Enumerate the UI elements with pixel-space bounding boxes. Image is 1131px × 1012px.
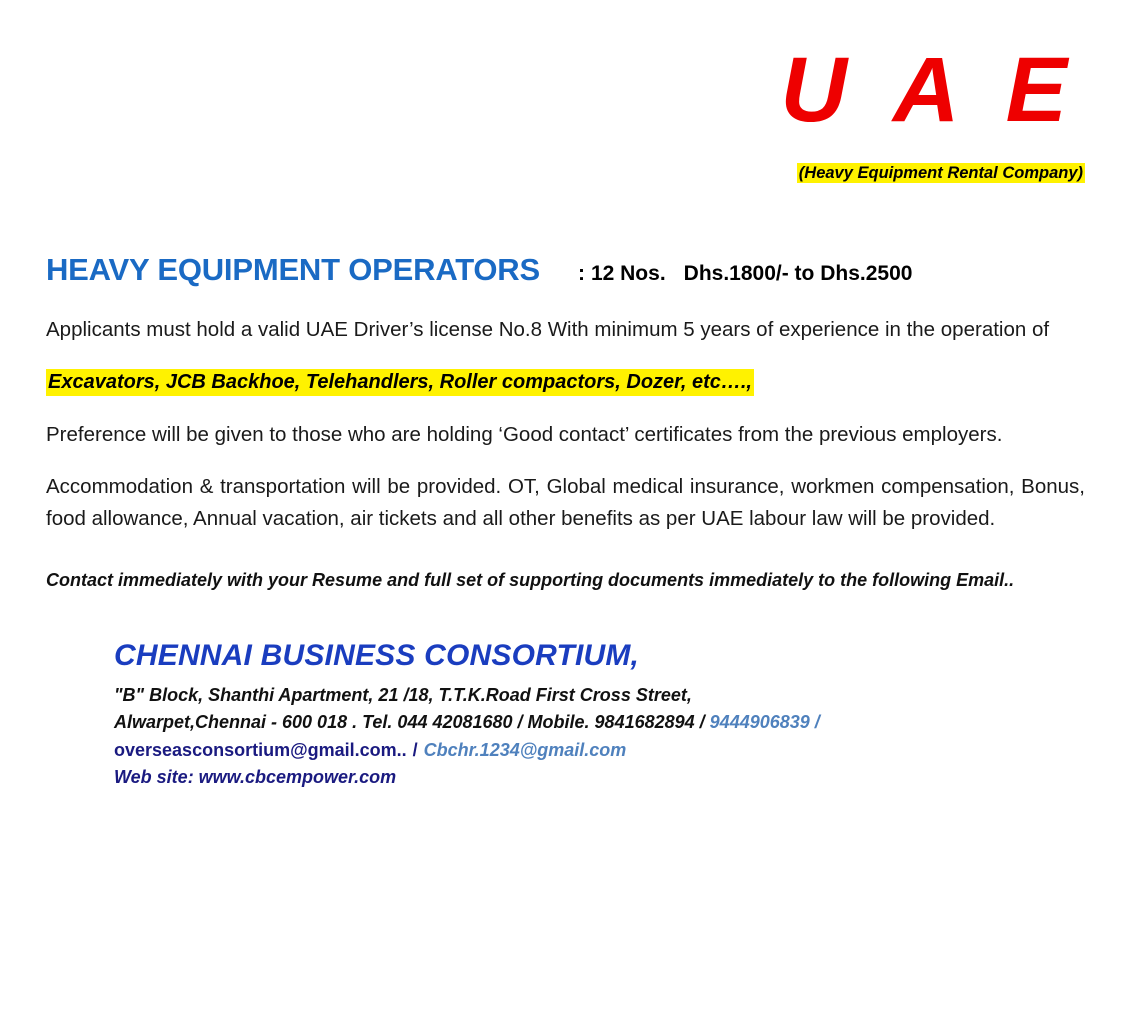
job-title-row: HEAVY EQUIPMENT OPERATORS :12 Nos.Dhs.18… xyxy=(46,252,1085,288)
job-meta-group: :12 Nos.Dhs.1800/- to Dhs.2500 xyxy=(578,262,912,286)
contact-instruction-paragraph: Contact immediately with your Resume and… xyxy=(46,567,1082,594)
brand-subtitle-wrapper: (Heavy Equipment Rental Company) xyxy=(46,162,1085,186)
header-logo-block: U A E (Heavy Equipment Rental Company) xyxy=(46,0,1085,186)
address-email-line: overseasconsortium@gmail.com../Cbchr.123… xyxy=(114,737,1085,764)
address-website-line: Web site: www.cbcempower.com xyxy=(114,764,1085,791)
email-primary-link[interactable]: overseasconsortium@gmail.com.. xyxy=(114,740,407,760)
company-address: "B" Block, Shanthi Apartment, 21 /18, T.… xyxy=(114,682,1085,791)
advertisement-page: U A E (Heavy Equipment Rental Company) H… xyxy=(0,0,1131,1012)
benefits-paragraph: Accommodation & transportation will be p… xyxy=(46,471,1085,535)
brand-title-uae: U A E xyxy=(46,44,1079,136)
website-link[interactable]: Web site: www.cbcempower.com xyxy=(114,767,396,787)
address-line-1: "B" Block, Shanthi Apartment, 21 /18, T.… xyxy=(114,682,1085,709)
requirement-paragraph: Applicants must hold a valid UAE Driver’… xyxy=(46,314,1085,346)
job-meta-colon: : xyxy=(578,262,585,285)
company-contact-block: CHENNAI BUSINESS CONSORTIUM, "B" Block, … xyxy=(114,638,1085,791)
mobile-number-link[interactable]: 9444906839 / xyxy=(710,712,820,732)
preference-paragraph: Preference will be given to those who ar… xyxy=(46,419,1085,451)
address-phone-text: Alwarpet,Chennai - 600 018 . Tel. 044 42… xyxy=(114,712,710,732)
equipment-list-highlighted: Excavators, JCB Backhoe, Telehandlers, R… xyxy=(46,369,754,396)
brand-subtitle-highlighted: (Heavy Equipment Rental Company) xyxy=(797,163,1085,183)
address-line-2: Alwarpet,Chennai - 600 018 . Tel. 044 42… xyxy=(114,709,1085,736)
job-vacancy-count: 12 Nos. xyxy=(591,262,666,285)
equipment-list-wrapper: Excavators, JCB Backhoe, Telehandlers, R… xyxy=(46,366,1085,398)
job-salary-range: Dhs.1800/- to Dhs.2500 xyxy=(684,262,913,285)
job-position-title: HEAVY EQUIPMENT OPERATORS xyxy=(46,252,540,288)
email-secondary-link[interactable]: Cbchr.1234@gmail.com xyxy=(424,740,627,760)
email-separator: / xyxy=(413,740,418,760)
company-name: CHENNAI BUSINESS CONSORTIUM, xyxy=(114,638,1085,674)
